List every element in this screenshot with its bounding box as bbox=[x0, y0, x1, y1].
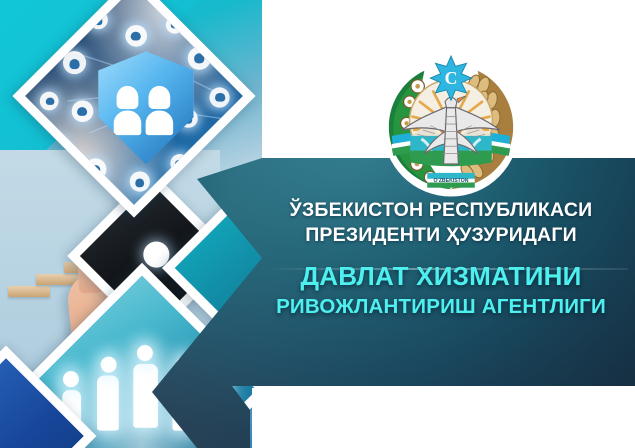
user-node-icon bbox=[188, 47, 211, 70]
user-node-icon bbox=[210, 87, 230, 107]
user-node-icon bbox=[125, 25, 147, 47]
poster-root: C O'ZBEKISTON ЎЗБЕКИСТОН РЕСПУБЛИКАСИ ПР… bbox=[0, 0, 635, 448]
user-node-icon bbox=[130, 172, 150, 192]
emblem-container: C O'ZBEKISTON bbox=[377, 53, 525, 201]
org-line-1: ЎЗБЕКИСТОН РЕСПУБЛИКАСИ bbox=[252, 198, 630, 223]
org-line-3: ДАВЛАТ ХИЗМАТИНИ bbox=[252, 259, 630, 293]
person-figure-icon bbox=[97, 376, 119, 431]
svg-text:C: C bbox=[445, 68, 458, 88]
user-node-icon bbox=[63, 51, 86, 74]
organization-title-block: ЎЗБЕКИСТОН РЕСПУБЛИКАСИ ПРЕЗИДЕНТИ ҲУЗУР… bbox=[252, 198, 630, 320]
org-line-4: РИВОЖЛАНТИРИШ АГЕНТЛИГИ bbox=[252, 293, 630, 320]
security-shield-icon bbox=[98, 51, 194, 164]
emblem-scroll-text: O'ZBEKISTON bbox=[433, 178, 468, 184]
uzbekistan-state-emblem-icon: C O'ZBEKISTON bbox=[377, 53, 525, 201]
person-figure-icon bbox=[133, 364, 158, 428]
user-node-icon bbox=[71, 100, 93, 122]
stair-step bbox=[36, 274, 78, 285]
stair-step bbox=[8, 286, 50, 297]
org-line-2: ПРЕЗИДЕНТИ ҲУЗУРИДАГИ bbox=[252, 223, 630, 248]
user-node-icon bbox=[40, 92, 59, 111]
